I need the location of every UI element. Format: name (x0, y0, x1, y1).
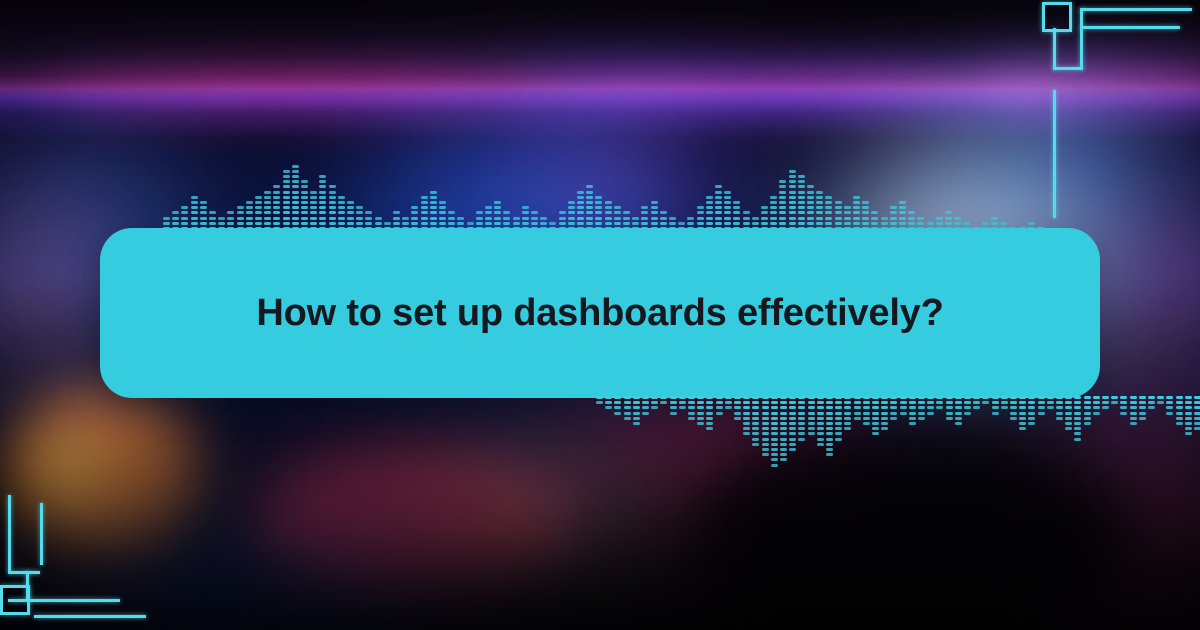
waveform-dash (310, 201, 317, 204)
waveform-dash (679, 406, 686, 409)
waveform-dash (761, 217, 768, 220)
waveform-dash (816, 211, 823, 214)
waveform-dash (347, 206, 354, 209)
waveform-dash (688, 401, 695, 404)
waveform-bar (716, 396, 723, 475)
waveform-dash (835, 406, 842, 409)
waveform-dash (770, 211, 777, 214)
waveform-dash (1019, 427, 1026, 430)
waveform-dash (641, 222, 648, 225)
waveform-bar (872, 396, 879, 475)
waveform-dash (1084, 401, 1091, 404)
waveform-dash (752, 417, 759, 420)
waveform-bar (835, 156, 842, 230)
waveform-dash (227, 211, 234, 214)
waveform-dash (927, 406, 934, 409)
waveform-dash (301, 222, 308, 225)
waveform-bar (1176, 396, 1183, 475)
waveform-dash (853, 222, 860, 225)
waveform-dash (670, 412, 677, 415)
waveform-dash (283, 191, 290, 194)
waveform-dash (605, 206, 612, 209)
waveform-dash (1074, 438, 1081, 441)
waveform-bar (503, 156, 510, 230)
waveform-bar (743, 156, 750, 230)
waveform-bar (1009, 156, 1016, 230)
waveform-dash (779, 222, 786, 225)
waveform-dash (808, 432, 815, 435)
waveform-dash (697, 422, 704, 425)
waveform-dash (411, 222, 418, 225)
waveform-dash (743, 427, 750, 430)
waveform-dash (854, 401, 861, 404)
waveform-dash (1102, 406, 1109, 409)
waveform-dash (1028, 222, 1035, 225)
waveform-dash (485, 211, 492, 214)
waveform-bar (467, 156, 474, 230)
waveform-bar (697, 156, 704, 230)
waveform-dash (1157, 401, 1164, 404)
waveform-dash (743, 422, 750, 425)
waveform-dash (771, 438, 778, 441)
waveform-bar (761, 156, 768, 230)
waveform-dash (549, 222, 556, 225)
waveform-dash (725, 406, 732, 409)
waveform-dash (273, 201, 280, 204)
waveform-dash (310, 217, 317, 220)
waveform-dash (494, 201, 501, 204)
waveform-dash (826, 438, 833, 441)
waveform-bar (1102, 396, 1109, 475)
waveform-dash (780, 427, 787, 430)
waveform-dash (292, 180, 299, 183)
waveform-dash (1157, 396, 1164, 399)
waveform-dash (467, 222, 474, 225)
waveform-dash (909, 412, 916, 415)
waveform-dash (1038, 412, 1045, 415)
waveform-bar (1130, 396, 1137, 475)
waveform-bar (485, 156, 492, 230)
waveform-dash (752, 427, 759, 430)
waveform-dash (209, 222, 216, 225)
waveform-bar (1084, 396, 1091, 475)
waveform-dash (835, 396, 842, 399)
waveform-dash (614, 217, 621, 220)
waveform-dash (733, 211, 740, 214)
waveform-dash (771, 406, 778, 409)
waveform-dash (586, 185, 593, 188)
waveform-dash (319, 222, 326, 225)
waveform-dash (706, 401, 713, 404)
waveform-bar (817, 396, 824, 475)
waveform-dash (338, 201, 345, 204)
waveform-bar (264, 156, 271, 230)
waveform-dash (909, 396, 916, 399)
waveform-bar (670, 396, 677, 475)
waveform-dash (264, 211, 271, 214)
waveform-bar (854, 396, 861, 475)
waveform-bar (927, 156, 934, 230)
waveform-dash (761, 211, 768, 214)
waveform-dash (596, 396, 603, 399)
waveform-dash (780, 458, 787, 461)
waveform-dash (301, 201, 308, 204)
waveform-dash (439, 206, 446, 209)
waveform-dash (283, 170, 290, 173)
waveform-bar (1019, 156, 1026, 230)
waveform-dash (835, 217, 842, 220)
waveform-dash (817, 412, 824, 415)
waveform-dash (779, 211, 786, 214)
waveform-dash (595, 201, 602, 204)
waveform-dash (743, 417, 750, 420)
waveform-dash (789, 438, 796, 441)
waveform-bar (890, 156, 897, 230)
circuit-frame-top-right-trace-1 (1080, 26, 1180, 29)
waveform-dash (825, 211, 832, 214)
waveform-dash (789, 211, 796, 214)
waveform-dash (200, 222, 207, 225)
waveform-dash (762, 443, 769, 446)
waveform-dash (448, 211, 455, 214)
waveform-dash (816, 201, 823, 204)
waveform-dash (669, 222, 676, 225)
waveform-dash (633, 422, 640, 425)
waveform-bar (724, 156, 731, 230)
waveform-dash (255, 201, 262, 204)
waveform-dash (992, 396, 999, 399)
waveform-dash (430, 191, 437, 194)
waveform-dash (946, 396, 953, 399)
waveform-dash (862, 201, 869, 204)
waveform-bar (605, 396, 612, 475)
waveform-bar (863, 396, 870, 475)
waveform-dash (200, 206, 207, 209)
waveform-dash (779, 191, 786, 194)
waveform-dash (1065, 401, 1072, 404)
waveform-bar (881, 396, 888, 475)
waveform-dash (918, 401, 925, 404)
waveform-dash (743, 412, 750, 415)
waveform-dash (706, 396, 713, 399)
waveform-dash (716, 401, 723, 404)
waveform-dash (494, 211, 501, 214)
waveform-dash (770, 222, 777, 225)
waveform-dash (697, 406, 704, 409)
waveform-bar (844, 396, 851, 475)
waveform-dash (808, 406, 815, 409)
waveform-dash (807, 191, 814, 194)
waveform-dash (706, 417, 713, 420)
waveform-dash (1010, 406, 1017, 409)
waveform-dash (872, 406, 879, 409)
waveform-dash (770, 196, 777, 199)
waveform-dash (595, 217, 602, 220)
audio-waveform-top (163, 156, 1047, 230)
waveform-dash (762, 406, 769, 409)
waveform-dash (1065, 412, 1072, 415)
circuit-frame-top-right-trace-4 (1053, 28, 1056, 70)
waveform-dash (789, 412, 796, 415)
waveform-bar (798, 396, 805, 475)
waveform-dash (319, 185, 326, 188)
waveform-dash (660, 401, 667, 404)
waveform-dash (531, 222, 538, 225)
waveform-dash (651, 401, 658, 404)
waveform-dash (1185, 406, 1192, 409)
waveform-dash (900, 401, 907, 404)
waveform-dash (862, 222, 869, 225)
waveform-dash (826, 427, 833, 430)
waveform-dash (1185, 412, 1192, 415)
waveform-dash (706, 422, 713, 425)
waveform-bar (835, 396, 842, 475)
waveform-bar (596, 396, 603, 475)
waveform-dash (1019, 412, 1026, 415)
waveform-dash (292, 175, 299, 178)
waveform-dash (752, 438, 759, 441)
waveform-bar (991, 156, 998, 230)
waveform-dash (1148, 396, 1155, 399)
waveform-dash (734, 401, 741, 404)
waveform-dash (209, 211, 216, 214)
waveform-bar (733, 156, 740, 230)
waveform-dash (633, 406, 640, 409)
waveform-dash (844, 217, 851, 220)
waveform-dash (632, 222, 639, 225)
waveform-dash (872, 432, 879, 435)
waveform-dash (715, 185, 722, 188)
waveform-dash (771, 464, 778, 467)
waveform-dash (890, 206, 897, 209)
waveform-dash (586, 206, 593, 209)
waveform-dash (771, 458, 778, 461)
waveform-dash (807, 201, 814, 204)
waveform-dash (798, 417, 805, 420)
waveform-dash (172, 222, 179, 225)
waveform-dash (899, 217, 906, 220)
waveform-dash (559, 222, 566, 225)
waveform-dash (743, 211, 750, 214)
waveform-dash (595, 206, 602, 209)
waveform-dash (292, 201, 299, 204)
waveform-dash (273, 211, 280, 214)
waveform-dash (624, 417, 631, 420)
waveform-dash (992, 412, 999, 415)
waveform-dash (1185, 432, 1192, 435)
waveform-dash (890, 412, 897, 415)
waveform-dash (808, 417, 815, 420)
waveform-dash (375, 217, 382, 220)
waveform-dash (1010, 412, 1017, 415)
waveform-bar (688, 396, 695, 475)
waveform-dash (780, 396, 787, 399)
waveform-dash (816, 191, 823, 194)
waveform-dash (881, 222, 888, 225)
waveform-bar (936, 156, 943, 230)
waveform-dash (863, 406, 870, 409)
waveform-dash (218, 217, 225, 220)
waveform-dash (890, 401, 897, 404)
waveform-bar (1010, 396, 1017, 475)
waveform-dash (697, 417, 704, 420)
waveform-dash (779, 185, 786, 188)
waveform-dash (724, 191, 731, 194)
waveform-bar (301, 156, 308, 230)
waveform-dash (743, 432, 750, 435)
waveform-dash (605, 211, 612, 214)
waveform-dash (660, 396, 667, 399)
waveform-bar (430, 156, 437, 230)
waveform-dash (1130, 406, 1137, 409)
waveform-dash (329, 191, 336, 194)
waveform-bar (816, 156, 823, 230)
waveform-dash (1139, 401, 1146, 404)
waveform-dash (1001, 401, 1008, 404)
waveform-dash (246, 217, 253, 220)
waveform-dash (1056, 396, 1063, 399)
waveform-bar (319, 156, 326, 230)
waveform-dash (641, 217, 648, 220)
waveform-dash (1065, 396, 1072, 399)
waveform-dash (752, 432, 759, 435)
waveform-dash (706, 412, 713, 415)
waveform-bar (762, 396, 769, 475)
waveform-bar (890, 396, 897, 475)
waveform-dash (890, 396, 897, 399)
waveform-dash (743, 222, 750, 225)
waveform-dash (771, 448, 778, 451)
waveform-bar (310, 156, 317, 230)
waveform-dash (1139, 412, 1146, 415)
waveform-dash (595, 222, 602, 225)
waveform-dash (771, 417, 778, 420)
waveform-dash (540, 217, 547, 220)
waveform-dash (586, 211, 593, 214)
waveform-dash (900, 412, 907, 415)
waveform-dash (798, 222, 805, 225)
waveform-dash (771, 432, 778, 435)
waveform-dash (292, 211, 299, 214)
waveform-dash (273, 217, 280, 220)
waveform-dash (854, 396, 861, 399)
waveform-dash (789, 175, 796, 178)
waveform-dash (771, 422, 778, 425)
waveform-dash (319, 206, 326, 209)
waveform-dash (826, 406, 833, 409)
waveform-dash (724, 222, 731, 225)
waveform-dash (1120, 406, 1127, 409)
waveform-dash (623, 217, 630, 220)
waveform-dash (743, 396, 750, 399)
waveform-dash (697, 412, 704, 415)
waveform-dash (577, 201, 584, 204)
waveform-dash (862, 217, 869, 220)
waveform-dash (347, 201, 354, 204)
waveform-dash (246, 211, 253, 214)
waveform-dash (899, 222, 906, 225)
waveform-dash (1028, 401, 1035, 404)
waveform-dash (1056, 412, 1063, 415)
waveform-dash (826, 432, 833, 435)
waveform-dash (319, 175, 326, 178)
waveform-dash (255, 206, 262, 209)
waveform-dash (172, 217, 179, 220)
waveform-dash (835, 417, 842, 420)
waveform-dash (1093, 396, 1100, 399)
waveform-dash (605, 222, 612, 225)
waveform-dash (411, 206, 418, 209)
waveform-dash (338, 206, 345, 209)
waveform-dash (734, 412, 741, 415)
waveform-dash (789, 180, 796, 183)
waveform-dash (918, 417, 925, 420)
waveform-dash (393, 211, 400, 214)
waveform-dash (1194, 396, 1200, 399)
waveform-bar (715, 156, 722, 230)
waveform-dash (485, 206, 492, 209)
waveform-dash (513, 217, 520, 220)
waveform-dash (384, 222, 391, 225)
waveform-dash (881, 417, 888, 420)
waveform-dash (641, 211, 648, 214)
waveform-dash (844, 396, 851, 399)
question-text: How to set up dashboards effectively? (200, 291, 999, 336)
waveform-dash (954, 217, 961, 220)
waveform-dash (936, 396, 943, 399)
waveform-dash (955, 417, 962, 420)
waveform-dash (476, 217, 483, 220)
waveform-dash (789, 406, 796, 409)
waveform-dash (283, 206, 290, 209)
waveform-dash (808, 412, 815, 415)
waveform-dash (338, 222, 345, 225)
circuit-frame-bottom-left-trace-1 (8, 495, 11, 573)
waveform-dash (908, 222, 915, 225)
waveform-bar (172, 156, 179, 230)
waveform-dash (835, 412, 842, 415)
waveform-dash (881, 406, 888, 409)
waveform-dash (568, 201, 575, 204)
waveform-dash (448, 222, 455, 225)
waveform-dash (292, 217, 299, 220)
waveform-dash (191, 211, 198, 214)
circuit-frame-bottom-left-box-0 (0, 585, 30, 615)
waveform-dash (826, 422, 833, 425)
waveform-dash (890, 417, 897, 420)
waveform-dash (1010, 401, 1017, 404)
waveform-dash (531, 211, 538, 214)
waveform-dash (1130, 417, 1137, 420)
waveform-dash (301, 191, 308, 194)
waveform-dash (780, 422, 787, 425)
waveform-dash (798, 401, 805, 404)
waveform-dash (798, 201, 805, 204)
waveform-dash (1074, 396, 1081, 399)
waveform-bar (402, 156, 409, 230)
waveform-dash (310, 222, 317, 225)
circuit-frame-top-right-trace-5 (1053, 90, 1056, 218)
waveform-bar (1194, 396, 1200, 475)
waveform-bar (992, 396, 999, 475)
waveform-dash (807, 211, 814, 214)
waveform-dash (421, 201, 428, 204)
waveform-dash (964, 396, 971, 399)
waveform-dash (789, 206, 796, 209)
waveform-dash (172, 211, 179, 214)
waveform-dash (1139, 417, 1146, 420)
question-card[interactable]: How to set up dashboards effectively? (100, 228, 1100, 398)
